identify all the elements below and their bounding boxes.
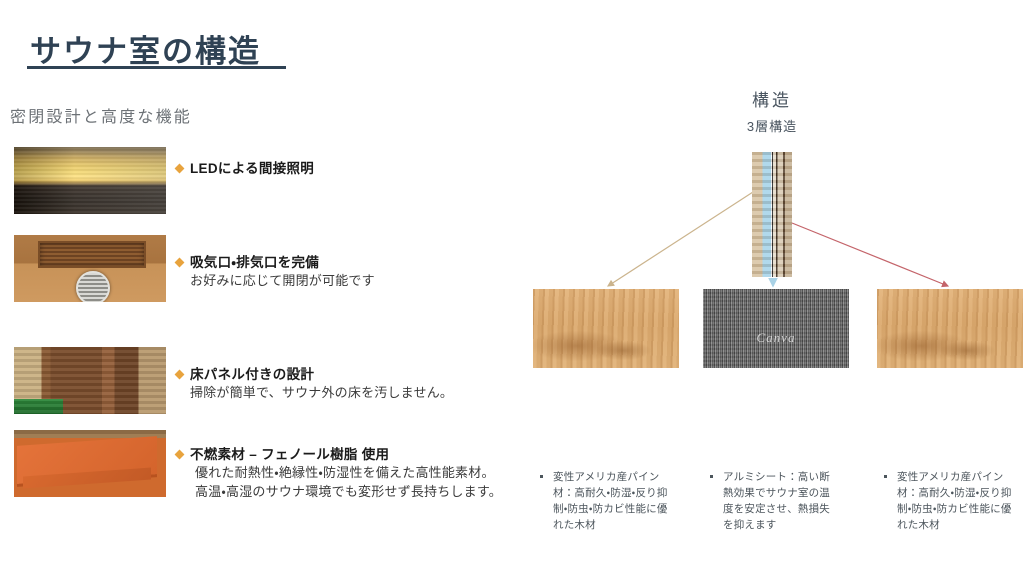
sauna-floor-panel-photo <box>14 347 166 414</box>
page-title: サウナ室の構造 <box>30 26 261 71</box>
feature-text-led: LEDによる間接照明 <box>176 160 536 177</box>
canva-watermark: Canva <box>703 330 849 346</box>
caption-middle-alumi: アルミシート：高い断熱効果でサウナ室の温度を安定させ、熱損失を抑えます <box>710 469 838 533</box>
diamond-bullet-icon <box>175 450 185 460</box>
caption-text: 変性アメリカ産パイン材：高耐久・防湿・反り抑制・防虫・防カビ性能に優れた木材 <box>897 469 1012 533</box>
diamond-bullet-icon <box>175 370 185 380</box>
caption-left-pine: 変性アメリカ産パイン材：高耐久・防湿・反り抑制・防虫・防カビ性能に優れた木材 <box>540 469 668 533</box>
wall-cross-section-image <box>752 152 792 277</box>
feature-detail: 掃除が簡単で、サウナ外の床を汚しません。 <box>190 383 536 402</box>
diamond-bullet-icon <box>175 164 185 174</box>
feature-heading: 不燃素材 – フェノール樹脂 使用 <box>190 446 536 463</box>
diagram-title: 構造 <box>520 86 1024 111</box>
feature-text-phenolic-resin: 不燃素材 – フェノール樹脂 使用 優れた耐熱性・絶縁性・防湿性を備えた高性能素… <box>176 446 536 501</box>
caption-text: 変性アメリカ産パイン材：高耐久・防湿・反り抑制・防虫・防カビ性能に優れた木材 <box>553 469 668 533</box>
feature-text-vent: 吸気口・排気口を完備 お好みに応じて開閉が可能です <box>176 254 536 290</box>
pine-wood-sample-left <box>533 289 679 368</box>
pine-wood-sample-right <box>877 289 1023 368</box>
feature-list: LEDによる間接照明 吸気口・排気口を完備 お好みに応じて開閉が可能です 床パネ… <box>0 140 540 540</box>
caption-bullet-icon <box>884 475 887 478</box>
structure-diagram: 構造 3層構造 Canva 変性アメリカ産パイン材：高耐 <box>520 86 1024 506</box>
connector-left <box>608 192 753 286</box>
feature-heading: 吸気口・排気口を完備 <box>190 254 536 271</box>
feature-detail-second-line: 高温・高湿のサウナ環境でも変形せず長持ちします。 <box>195 482 536 501</box>
caption-right-pine: 変性アメリカ産パイン材：高耐久・防湿・反り抑制・防虫・防カビ性能に優れた木材 <box>884 469 1012 533</box>
sauna-air-vent-photo <box>14 235 166 302</box>
feature-detail: お好みに応じて開閉が可能です <box>190 271 536 290</box>
title-underline <box>27 66 286 69</box>
led-lit-sauna-bench-photo <box>14 147 166 214</box>
phenolic-resin-board-photo <box>14 430 166 497</box>
diamond-bullet-icon <box>175 258 185 268</box>
feature-heading: LEDによる間接照明 <box>190 160 536 177</box>
feature-heading: 床パネル付きの設計 <box>190 366 536 383</box>
feature-text-floor-panel: 床パネル付きの設計 掃除が簡単で、サウナ外の床を汚しません。 <box>176 366 536 402</box>
caption-bullet-icon <box>710 475 713 478</box>
page-subtitle: 密閉設計と高度な機能 <box>10 103 192 127</box>
feature-detail: 優れた耐熱性・絶縁性・防湿性を備えた高性能素材。 <box>195 463 536 482</box>
caption-text: アルミシート：高い断熱効果でサウナ室の温度を安定させ、熱損失を抑えます <box>723 469 838 533</box>
connector-right <box>792 223 948 286</box>
aluminium-sheet-sample: Canva <box>703 289 849 368</box>
caption-bullet-icon <box>540 475 543 478</box>
diagram-subtitle: 3層構造 <box>520 116 1024 135</box>
